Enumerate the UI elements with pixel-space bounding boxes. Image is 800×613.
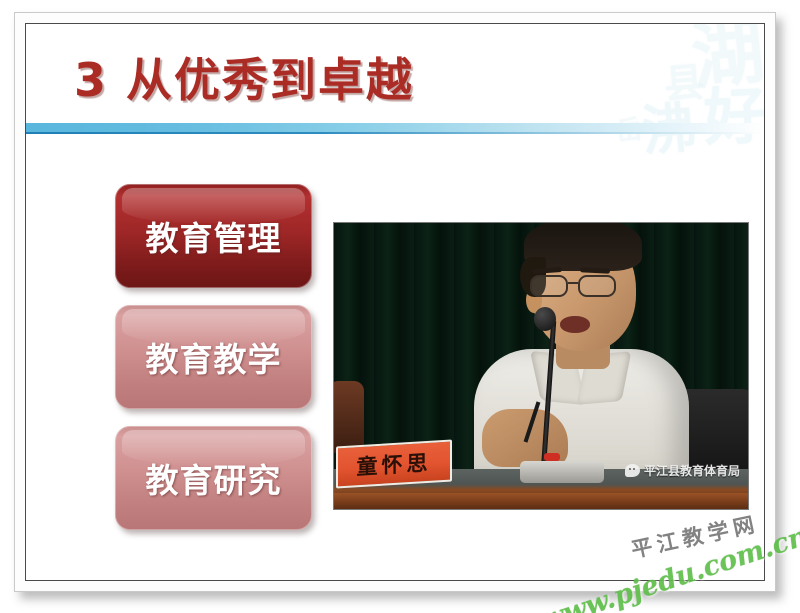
category-button-stack: 教育管理 教育教学 教育研究 <box>115 184 315 547</box>
photo-watermark-label: 平江县教育体育局 <box>644 462 740 479</box>
button-education-management[interactable]: 教育管理 <box>115 184 312 288</box>
slide-root: 湖 县 好 沸 岳 3 从优秀到卓越 教育管理 教育教学 <box>0 0 800 613</box>
title-area: 3 从优秀到卓越 <box>26 40 764 126</box>
glasses-lens-left <box>530 275 568 297</box>
button-education-research[interactable]: 教育研究 <box>115 426 312 530</box>
photo-watermark: 平江县教育体育局 <box>625 462 740 479</box>
button-label: 教育教学 <box>146 333 282 381</box>
wechat-icon <box>625 464 640 477</box>
button-label: 教育研究 <box>146 454 282 502</box>
title-divider-band <box>26 123 764 132</box>
person-mouth <box>560 316 590 333</box>
button-education-teaching[interactable]: 教育教学 <box>115 305 312 409</box>
microphone-indicator-light <box>544 453 560 461</box>
slide-canvas: 湖 县 好 沸 岳 3 从优秀到卓越 教育管理 教育教学 <box>25 23 765 581</box>
button-label: 教育管理 <box>146 212 282 260</box>
microphone-head <box>534 307 556 331</box>
photo-desk-front <box>334 493 748 509</box>
microphone-base <box>520 461 604 483</box>
nameplate-text: 童怀思 <box>357 447 432 482</box>
desk-nameplate: 童怀思 <box>336 439 452 488</box>
glasses-lens-right <box>578 275 616 297</box>
person-glasses <box>530 275 634 297</box>
speaker-photo: 童怀思 平江县教育体育局 <box>333 222 749 510</box>
page-title: 3 从优秀到卓越 <box>74 44 414 110</box>
glasses-bridge <box>568 282 578 284</box>
slide-frame: 湖 县 好 沸 岳 3 从优秀到卓越 教育管理 教育教学 <box>14 12 776 592</box>
title-divider-line <box>26 132 764 134</box>
